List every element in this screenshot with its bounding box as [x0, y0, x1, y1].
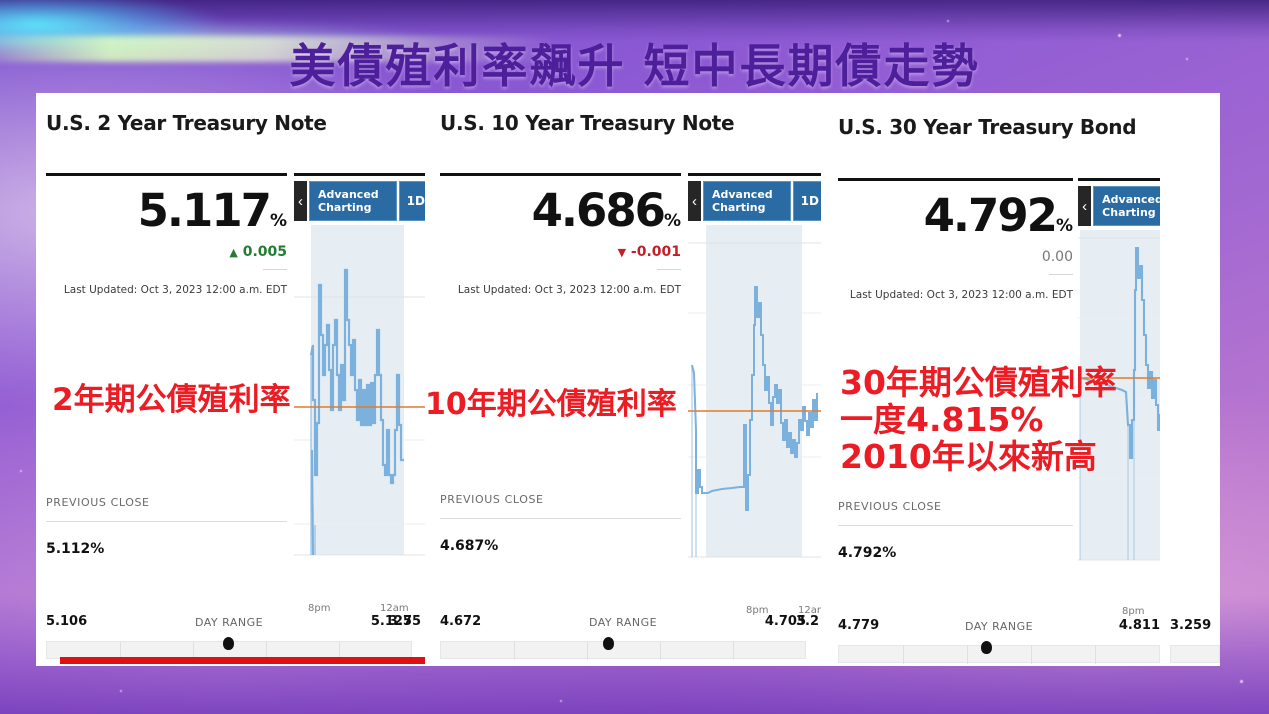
quote-block: 5.117% ▲ 0.005 Last Updated: Oct 3, 2023… — [46, 188, 287, 296]
title-rule — [440, 173, 681, 176]
sparkle — [1240, 680, 1243, 683]
sparkle — [947, 20, 949, 22]
day-range-low: 3.259 — [1170, 618, 1211, 633]
interval-button-1d[interactable]: 1D — [399, 181, 425, 221]
next-panel-cutoff-value: 3.2 — [796, 614, 819, 629]
quote-block: 4.792% 0.00 Last Updated: Oct 3, 2023 12… — [838, 193, 1073, 301]
widget-top-rule — [688, 173, 821, 176]
quote-value: 5.117% — [46, 188, 287, 233]
percent-symbol: % — [270, 211, 287, 231]
change-rule — [263, 269, 287, 270]
change-value: ▼ -0.001 — [440, 244, 681, 260]
percent-symbol: % — [1056, 216, 1073, 236]
annotation-2-year: 2年期公債殖利率 — [52, 383, 291, 418]
range-tick — [903, 646, 904, 664]
arrow-down-icon: ▼ — [618, 246, 626, 259]
quote-block: 4.686% ▼ -0.001 Last Updated: Oct 3, 202… — [440, 188, 681, 296]
last-updated: Last Updated: Oct 3, 2023 12:00 a.m. EDT — [838, 289, 1073, 301]
day-range-slider[interactable] — [440, 641, 806, 659]
advanced-charting-button[interactable]: Advanced Charting — [703, 181, 791, 221]
range-tick — [1095, 646, 1096, 664]
day-range-slider[interactable] — [838, 645, 1160, 663]
previous-close-label: PREVIOUS CLOSE — [46, 496, 150, 509]
range-tick — [1031, 646, 1032, 664]
quote-panel-partial: 3.259 — [1166, 93, 1220, 666]
red-underline-bar — [60, 657, 425, 664]
title-rule — [838, 178, 1073, 181]
previous-close-rule — [838, 525, 1073, 526]
quote-panel-2-year: U.S. 2 Year Treasury Note 5.117% ▲ 0.005… — [36, 93, 425, 666]
previous-close-value: 5.112% — [46, 541, 104, 557]
range-tick — [514, 642, 515, 660]
range-tick — [660, 642, 661, 660]
widget-toolbar: ‹ Advanced Charting 1D — [688, 181, 821, 221]
sparkle — [560, 700, 562, 702]
widget-top-rule — [1078, 178, 1160, 181]
percent-symbol: % — [664, 211, 681, 231]
previous-close-value: 4.687% — [440, 538, 498, 554]
range-tick — [733, 642, 734, 660]
day-range-label: DAY RANGE — [838, 620, 1160, 633]
axis-label-left: 8pm — [1122, 606, 1144, 617]
back-chevron-icon[interactable]: ‹ — [1078, 186, 1091, 226]
quote-panel-10-year: U.S. 10 Year Treasury Note 4.686% ▼ -0.0… — [432, 93, 821, 666]
day-range-label: DAY RANGE — [440, 616, 806, 629]
interval-button-1d[interactable]: 1D — [793, 181, 821, 221]
last-updated: Last Updated: Oct 3, 2023 12:00 a.m. EDT — [46, 284, 287, 296]
range-marker[interactable] — [603, 637, 614, 650]
previous-close-rule — [46, 521, 287, 522]
axis-label-right: 12am — [380, 603, 409, 614]
widget-toolbar: ‹ Advanced Charting 1D ▼ — [1078, 186, 1160, 226]
annotation-10-year: 10年期公債殖利率 — [425, 388, 677, 422]
annotation-30-year-line1: 30年期公債殖利率 — [840, 365, 1117, 402]
advanced-charting-button[interactable]: Advanced Charting — [309, 181, 397, 221]
previous-close-label: PREVIOUS CLOSE — [440, 493, 544, 506]
intraday-chart[interactable] — [294, 225, 425, 595]
change-value: 0.00 — [838, 249, 1073, 265]
day-range-label: DAY RANGE — [46, 616, 412, 629]
widget-toolbar: ‹ Advanced Charting 1D — [294, 181, 425, 221]
title-rule — [46, 173, 287, 176]
panel-title: U.S. 2 Year Treasury Note — [46, 111, 327, 135]
quote-value: 4.792% — [838, 193, 1073, 238]
next-panel-cutoff-value: 3.55 — [389, 614, 421, 629]
intraday-chart[interactable] — [688, 225, 821, 595]
panel-title: U.S. 10 Year Treasury Note — [440, 111, 734, 135]
change-rule — [657, 269, 681, 270]
page-title: 美債殖利率飆升 短中長期債走勢 — [0, 30, 1269, 96]
panel-title: U.S. 30 Year Treasury Bond — [838, 115, 1136, 139]
advanced-charting-button[interactable]: Advanced Charting — [1093, 186, 1160, 226]
back-chevron-icon[interactable]: ‹ — [294, 181, 307, 221]
back-chevron-icon[interactable]: ‹ — [688, 181, 701, 221]
range-tick — [967, 646, 968, 664]
annotation-30-year-line2: 一度4.815% — [840, 402, 1117, 439]
annotation-30-year: 30年期公債殖利率 一度4.815% 2010年以來新高 — [840, 365, 1117, 476]
axis-label-left: 8pm — [308, 603, 330, 614]
previous-close-label: PREVIOUS CLOSE — [838, 500, 942, 513]
last-updated: Last Updated: Oct 3, 2023 12:00 a.m. EDT — [440, 284, 681, 296]
previous-close-value: 4.792% — [838, 545, 896, 561]
day-range-high: 4.811 — [1119, 618, 1160, 633]
range-marker[interactable] — [223, 637, 234, 650]
range-marker[interactable] — [981, 641, 992, 654]
sparkle — [20, 470, 22, 472]
widget-top-rule — [294, 173, 425, 176]
previous-close-rule — [440, 518, 681, 519]
change-value: ▲ 0.005 — [46, 244, 287, 260]
sparkle — [120, 690, 122, 692]
day-range-slider[interactable] — [1170, 645, 1220, 663]
arrow-up-icon: ▲ — [229, 246, 237, 259]
annotation-30-year-line3: 2010年以來新高 — [840, 439, 1117, 476]
range-tick — [587, 642, 588, 660]
change-rule — [1049, 274, 1073, 275]
quote-value: 4.686% — [440, 188, 681, 233]
